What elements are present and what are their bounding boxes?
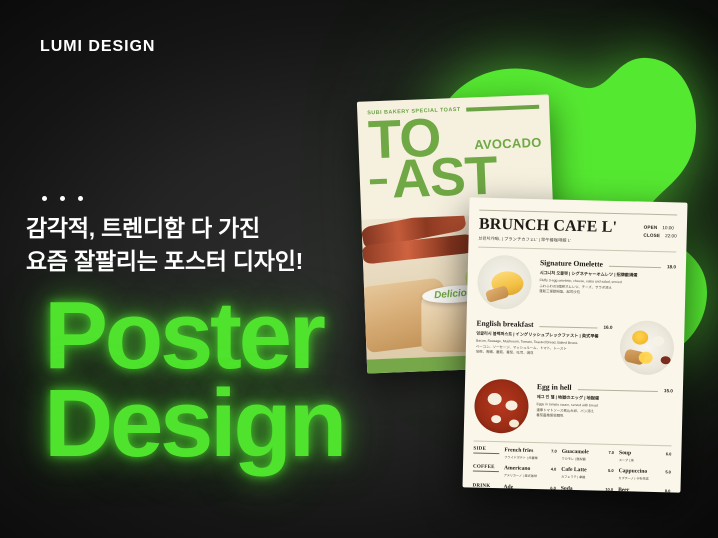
toast-poster-title-bottom-row: AST <box>369 152 543 204</box>
menu-category-cells: Ade 6.0 Lemon / Grapefruit / Green grape… <box>503 484 670 492</box>
main-title-line-1: Poster <box>44 292 344 380</box>
menu-category-cells: French fries 7.0 フライドポテト | 炸薯條 Guacamole… <box>504 447 671 464</box>
menu-cell-head: Soda 10.0 <box>561 486 613 493</box>
toast-poster-tag: AVOCADO <box>474 135 542 153</box>
menu-cell[interactable]: Cappuccino 5.0 カプチーノ | 卡布奇諾 <box>618 469 671 483</box>
menu-cell[interactable]: French fries 7.0 フライドポテト | 炸薯條 <box>504 447 557 461</box>
menu-cell-name: Americano <box>504 466 531 473</box>
toast-poster-dash <box>370 178 387 184</box>
menu-category-label: COFFEE <box>473 465 499 473</box>
menu-item-body: Egg in hell 15.0 에그 인 헬 | 地獄のエッグ | 地獄蛋 E… <box>536 380 673 422</box>
menu-cell-name: Beer <box>618 487 629 493</box>
toast-poster-header: SUBI BAKERY SPECIAL TOAST TO AVOCADO AST <box>357 94 553 204</box>
menu-item-name: English breakfast <box>476 319 533 329</box>
menu-item-name: Egg in hell <box>537 382 572 392</box>
menu-cell[interactable]: Ade 6.0 Lemon / Grapefruit / Green grape… <box>503 484 556 492</box>
menu-cell-description: Lemon / Grapefruit / Green grape レモン・グレー… <box>503 492 556 493</box>
brand-logo: LUMI DESIGN <box>40 38 155 56</box>
menu-cell-price: 10.0 <box>605 487 613 492</box>
decorative-dots <box>42 196 83 201</box>
menu-grid-rule-top <box>474 441 672 447</box>
menu-cell-head: Americano 4.0 <box>504 466 556 473</box>
menu-cell[interactable]: Cafe Latte 5.0 カフェラテ | 拿鐵 <box>561 467 614 481</box>
menu-cell[interactable]: Beer 8.0 ビール 啤酒 <box>618 487 671 493</box>
menu-item[interactable]: Signature Omelette 18.0 시그니처 오믈렛 | シグネチャ… <box>477 255 676 314</box>
menu-item-rule <box>539 326 597 328</box>
menu-category-label: SIDE <box>473 447 499 455</box>
menu-category-cells: Americano 4.0 アメリカーノ | 美式咖啡 Cafe Latte 5… <box>504 466 671 483</box>
menu-item-name: Signature Omelette <box>540 258 603 269</box>
korean-headline-line-2: 요즘 잘팔리는 포스터 디자인! <box>26 245 303 278</box>
english-breakfast-photo <box>619 320 674 375</box>
omelette-photo <box>477 255 532 310</box>
menu-item-rule <box>609 266 661 268</box>
menu-cell[interactable]: Soup 6.0 スープ | 湯 <box>619 450 672 464</box>
menu-item-head: Egg in hell 15.0 <box>537 382 673 394</box>
menu-cell-price: 6.0 <box>666 451 672 456</box>
menu-cell-price: 7.0 <box>608 450 614 455</box>
menu-cell-head: Ade 6.0 <box>503 484 555 491</box>
menu-cell-head: Beer 8.0 <box>618 487 670 493</box>
menu-cell[interactable]: Soda 10.0 Coke, Cider, Fanta コーラ、サイダー、ファ… <box>560 486 613 493</box>
menu-cell-description: フライドポテト | 炸薯條 <box>504 455 556 461</box>
menu-item-price: 18.0 <box>667 264 676 269</box>
menu-item-body: Signature Omelette 18.0 시그니처 오믈렛 | シグネチャ… <box>539 256 676 298</box>
menu-cell-description: カプチーノ | 卡布奇諾 <box>618 476 670 482</box>
dot-2 <box>60 196 65 201</box>
menu-cell-name: Cafe Latte <box>561 467 586 474</box>
menu-cell-name: Guacamole <box>562 449 589 456</box>
menu-cell-price: 8.0 <box>665 488 671 493</box>
menu-poster[interactable]: BRUNCH CAFE L' 브런치카페L | ブランチカフェL' | 早午餐咖… <box>462 197 687 492</box>
menu-cell-head: Soup 6.0 <box>619 450 671 457</box>
toast-poster-kicker-bar <box>467 105 540 112</box>
menu-hours-close: CLOSE22:00 <box>643 231 676 240</box>
menu-cell-price: 5.0 <box>608 468 614 473</box>
menu-hours: OPEN10:00 CLOSE22:00 <box>643 221 677 240</box>
menu-item-price: 16.0 <box>603 325 612 330</box>
menu-cell-head: Cappuccino 5.0 <box>619 469 671 476</box>
menu-cell-price: 4.0 <box>551 467 557 472</box>
menu-cell-price: 5.0 <box>665 470 671 475</box>
menu-cell-description: ワカモレ | 酪梨醬 <box>561 456 613 462</box>
menu-cell-name: Soup <box>619 450 631 456</box>
menu-item[interactable]: English breakfast 16.0 잉글리시 블랙퍼스트 | イングリ… <box>475 317 674 376</box>
main-title: Poster Design <box>44 292 344 469</box>
menu-cell[interactable]: Americano 4.0 アメリカーノ | 美式咖啡 <box>504 466 557 480</box>
menu-cell-name: French fries <box>504 447 533 454</box>
menu-subtitle: 브런치카페L | ブランチカフェL' | 早午餐咖啡館 L' <box>478 236 616 245</box>
menu-item-body: English breakfast 16.0 잉글리시 블랙퍼스트 | イングリ… <box>476 317 613 359</box>
menu-item-description: Fluffy 3-egg omelette, cheese, salsa and… <box>539 278 675 298</box>
dot-1 <box>42 196 47 201</box>
menu-category-row: DRINK Ade 6.0 Lemon / Grapefruit / Green… <box>472 483 670 492</box>
menu-header-rule <box>478 247 676 253</box>
menu-item[interactable]: Egg in hell 15.0 에그 인 헬 | 地獄のエッグ | 地獄蛋 E… <box>474 379 673 438</box>
menu-cell-price: 6.0 <box>550 485 556 490</box>
menu-item-description: Eggs in tomato sauce, served with bread … <box>536 402 672 422</box>
menu-cell-name: Cappuccino <box>619 469 648 476</box>
korean-headline: 감각적, 트렌디함 다 가진 요즘 잘팔리는 포스터 디자인! <box>26 212 303 277</box>
menu-cell-description: スープ | 湯 <box>619 458 671 464</box>
menu-cell-head: Guacamole 7.0 <box>562 449 614 456</box>
menu-cell-head: French fries 7.0 <box>504 447 556 454</box>
menu-item-head: Signature Omelette 18.0 <box>540 258 676 270</box>
menu-title: BRUNCH CAFE L' <box>479 217 618 236</box>
egg-in-hell-photo <box>474 379 529 434</box>
menu-cell-head: Cafe Latte 5.0 <box>561 467 613 474</box>
menu-category-row: COFFEE Americano 4.0 アメリカーノ | 美式咖啡 Cafe … <box>473 465 671 482</box>
dot-3 <box>78 196 83 201</box>
menu-cell-name: Soda <box>561 486 573 492</box>
menu-item-price: 15.0 <box>664 388 673 393</box>
main-title-line-2: Design <box>44 380 344 468</box>
menu-top-rule <box>479 210 677 216</box>
menu-item-head: English breakfast 16.0 <box>476 319 612 331</box>
menu-category-label: DRINK <box>472 483 498 491</box>
menu-cell-description: カフェラテ | 拿鐵 <box>561 475 613 481</box>
menu-cell-price: 7.0 <box>551 448 557 453</box>
menu-header: BRUNCH CAFE L' 브런치카페L | ブランチカフェL' | 早午餐咖… <box>478 217 677 247</box>
menu-item-description: Bacon, Sausage, Mushroom, Tomato, Toaste… <box>476 339 612 359</box>
toast-poster-title-bottom: AST <box>391 154 497 204</box>
korean-headline-line-1: 감각적, 트렌디함 다 가진 <box>26 212 303 245</box>
menu-cell-name: Ade <box>503 484 513 490</box>
menu-header-left: BRUNCH CAFE L' 브런치카페L | ブランチカフェL' | 早午餐咖… <box>478 217 617 245</box>
menu-category-row: SIDE French fries 7.0 フライドポテト | 炸薯條 Guac… <box>473 447 671 464</box>
menu-cell-description: アメリカーノ | 美式咖啡 <box>504 473 556 479</box>
slide-canvas: LUMI DESIGN 감각적, 트렌디함 다 가진 요즘 잘팔리는 포스터 디… <box>0 0 718 538</box>
menu-cell[interactable]: Guacamole 7.0 ワカモレ | 酪梨醬 <box>561 449 614 463</box>
menu-item-rule <box>578 389 658 392</box>
